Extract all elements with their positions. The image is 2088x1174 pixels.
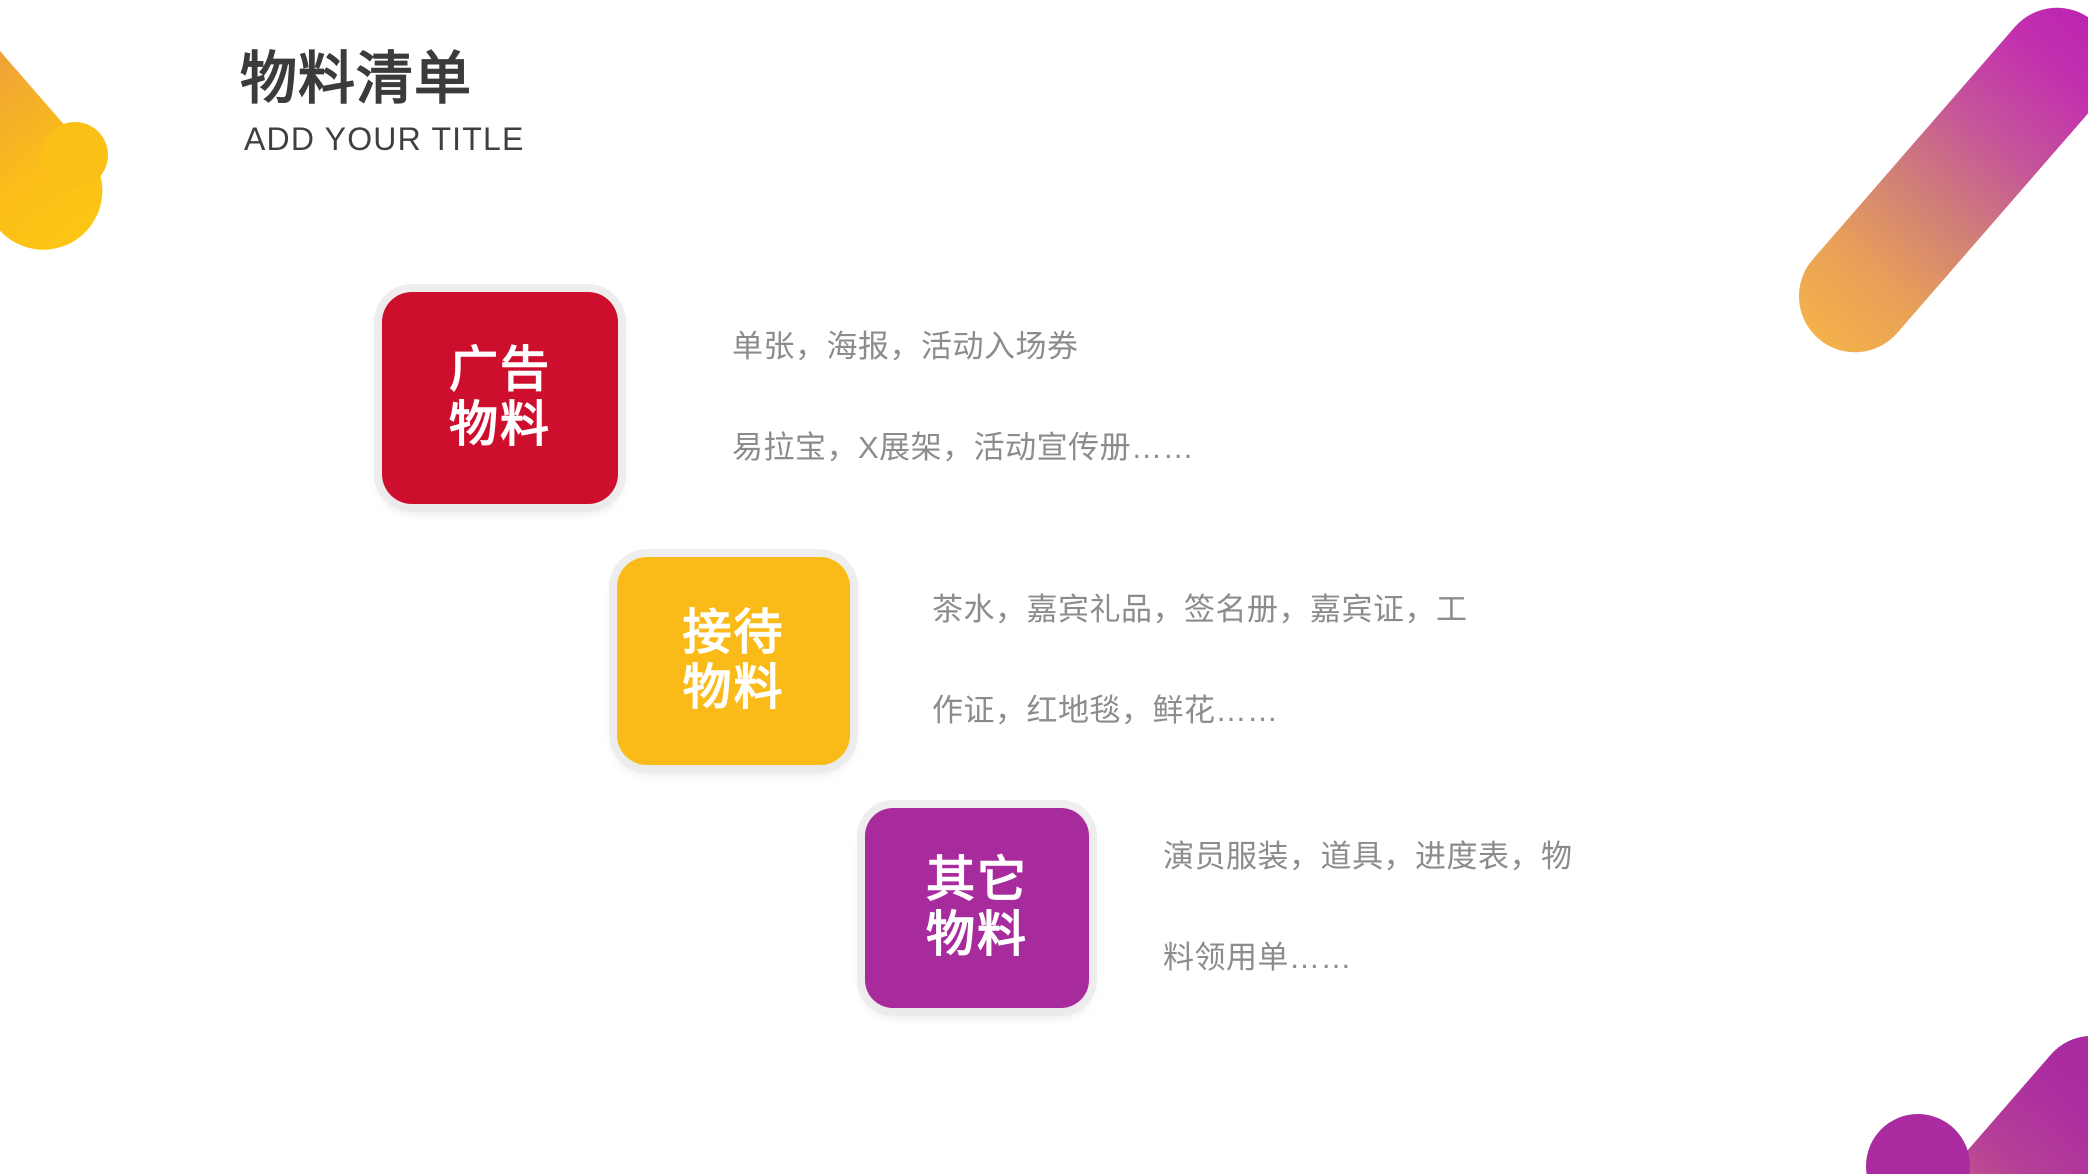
material-description: 茶水，嘉宾礼品，签名册，嘉宾证，工 作证，红地毯，鲜花…… xyxy=(932,535,1572,786)
description-line-2: 作证，红地毯，鲜花…… xyxy=(932,686,1572,736)
material-row: 接待 物料 茶水，嘉宾礼品，签名册，嘉宾证，工 作证，红地毯，鲜花…… xyxy=(617,535,1572,786)
material-row: 其它 物料 演员服装，道具，进度表，物 料领用单…… xyxy=(865,782,1683,1033)
comet-bar-bottom-right-icon xyxy=(1824,1014,2088,1174)
dot-bottom-right-icon xyxy=(1866,1114,1970,1174)
badge-label-line-2: 物料 xyxy=(682,661,784,716)
slide-header: 物料清单 ADD YOUR TITLE xyxy=(240,48,525,158)
badge-label-line-2: 物料 xyxy=(449,398,551,453)
description-line-1: 演员服装，道具，进度表，物 xyxy=(1163,832,1683,882)
slide-canvas: 物料清单 ADD YOUR TITLE 广告 物料 单张，海报，活动入场券 易拉… xyxy=(0,0,2088,1174)
page-subtitle: ADD YOUR TITLE xyxy=(244,120,525,158)
badge-label-line-2: 物料 xyxy=(926,908,1028,963)
badge-label-line-1: 广告 xyxy=(449,343,551,398)
badge-other-material[interactable]: 其它 物料 xyxy=(865,808,1089,1008)
badge-label-line-1: 接待 xyxy=(682,606,784,661)
description-line-2: 易拉宝，X展架，活动宣传册…… xyxy=(732,423,1292,473)
dot-top-left-icon xyxy=(42,122,108,188)
badge-advertising-material[interactable]: 广告 物料 xyxy=(382,292,618,504)
description-line-1: 单张，海报，活动入场券 xyxy=(732,322,1292,372)
comet-bar-top-right-icon xyxy=(1776,0,2088,375)
material-description: 演员服装，道具，进度表，物 料领用单…… xyxy=(1163,782,1683,1033)
material-row: 广告 物料 单张，海报，活动入场券 易拉宝，X展架，活动宣传册…… xyxy=(382,272,1292,523)
description-line-1: 茶水，嘉宾礼品，签名册，嘉宾证，工 xyxy=(932,585,1572,635)
material-description: 单张，海报，活动入场券 易拉宝，X展架，活动宣传册…… xyxy=(732,272,1292,523)
comet-bar-top-left-icon xyxy=(0,0,127,274)
description-line-2: 料领用单…… xyxy=(1163,933,1683,983)
page-title: 物料清单 xyxy=(240,48,525,112)
badge-reception-material[interactable]: 接待 物料 xyxy=(617,557,850,765)
badge-label-line-1: 其它 xyxy=(926,853,1028,908)
